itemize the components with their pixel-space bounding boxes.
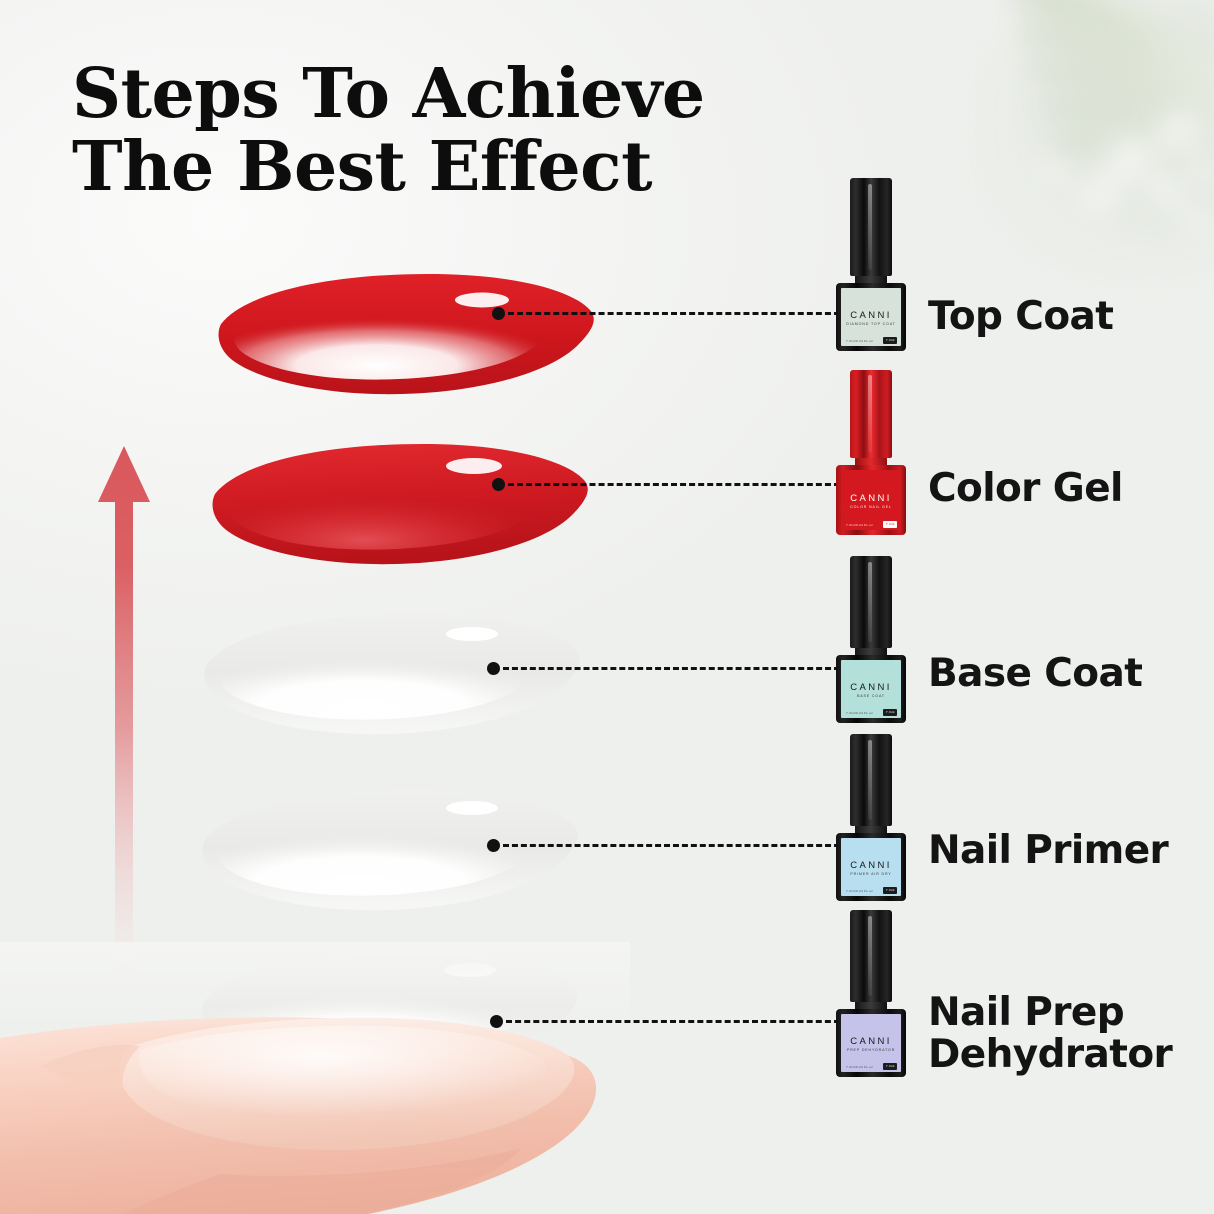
nail-layer-nail-prep-dehydrator <box>196 942 586 1077</box>
bottle-brand: CANNI <box>850 683 892 693</box>
bottle-variant: DIAMOND TOP COAT <box>846 323 895 327</box>
connector-dash <box>503 667 840 670</box>
bottle-label: CANNI DIAMOND TOP COAT 7.3ml/0.24 FL.oz … <box>841 288 901 346</box>
connector-dot <box>492 307 505 320</box>
bottle-label: CANNI PRIMER AIR DRY 7.3ml/0.24 FL.oz 7.… <box>841 838 901 896</box>
bottle-top-coat[interactable]: CANNI DIAMOND TOP COAT 7.3ml/0.24 FL.oz … <box>836 178 906 351</box>
bottle-label: CANNI COLOR NAIL GEL 7.3ml/0.24 FL.oz 7.… <box>841 470 901 530</box>
connector-top-coat <box>492 306 840 320</box>
bottle-cap <box>850 734 892 826</box>
bottle-body: CANNI PRIMER AIR DRY 7.3ml/0.24 FL.oz 7.… <box>836 833 906 901</box>
connector-base-coat <box>487 661 840 675</box>
bottle-neck <box>855 458 887 465</box>
palm-frond-decoration <box>854 0 1214 340</box>
connector-dash <box>506 1020 840 1023</box>
bottle-color-gel[interactable]: CANNI COLOR NAIL GEL 7.3ml/0.24 FL.oz 7.… <box>836 370 906 535</box>
bottle-volume: 7.3ml/0.24 FL.oz <box>846 524 873 527</box>
bottle-badge: 7.3ml <box>883 521 897 527</box>
bottle-base-coat[interactable]: CANNI BASE COAT 7.3ml/0.24 FL.oz 7.3ml <box>836 556 906 723</box>
bottle-variant: COLOR NAIL GEL <box>850 506 892 510</box>
upward-progress-arrow <box>93 446 155 991</box>
connector-dash <box>508 483 840 486</box>
bottle-cap <box>850 178 892 276</box>
bottle-variant: PREP DEHYDRATOR <box>847 1049 895 1053</box>
bottle-label: CANNI BASE COAT 7.3ml/0.24 FL.oz 7.3ml <box>841 660 901 718</box>
bottle-brand: CANNI <box>850 494 892 504</box>
bottle-brand: CANNI <box>850 311 892 321</box>
bottle-volume: 7.3ml/0.24 FL.oz <box>846 890 873 893</box>
bottle-volume: 7.3ml/0.24 FL.oz <box>846 712 873 715</box>
bottle-cap <box>850 556 892 648</box>
bottle-variant: BASE COAT <box>857 695 885 699</box>
connector-dot <box>492 478 505 491</box>
connector-dash <box>503 844 840 847</box>
bottle-label: CANNI PREP DEHYDRATOR 7.3ml/0.24 FL.oz 7… <box>841 1014 901 1072</box>
bottle-volume: 7.3ml/0.24 FL.oz <box>846 1066 873 1069</box>
bottle-body: CANNI BASE COAT 7.3ml/0.24 FL.oz 7.3ml <box>836 655 906 723</box>
step-label-base-coat: Base Coat <box>928 653 1142 695</box>
step-label-color-gel: Color Gel <box>928 468 1123 510</box>
bottle-nail-primer[interactable]: CANNI PRIMER AIR DRY 7.3ml/0.24 FL.oz 7.… <box>836 734 906 901</box>
page-title: Steps To Achieve The Best Effect <box>72 58 705 205</box>
connector-dot <box>487 662 500 675</box>
bottle-volume: 7.3ml/0.24 FL.oz <box>846 340 873 343</box>
connector-color-gel <box>492 477 840 491</box>
bottle-brand: CANNI <box>850 861 892 871</box>
bottle-cap <box>850 910 892 1002</box>
bottle-neck <box>855 276 887 283</box>
connector-nail-prep-dehydrator <box>490 1014 840 1028</box>
bottle-body: CANNI COLOR NAIL GEL 7.3ml/0.24 FL.oz 7.… <box>836 465 906 535</box>
bottle-nail-prep-dehydrator[interactable]: CANNI PREP DEHYDRATOR 7.3ml/0.24 FL.oz 7… <box>836 910 906 1077</box>
bottle-variant: PRIMER AIR DRY <box>850 873 891 877</box>
bottle-body: CANNI DIAMOND TOP COAT 7.3ml/0.24 FL.oz … <box>836 283 906 351</box>
bottle-neck <box>855 648 887 655</box>
bottle-body: CANNI PREP DEHYDRATOR 7.3ml/0.24 FL.oz 7… <box>836 1009 906 1077</box>
infographic-canvas: Steps To Achieve The Best Effect <box>0 0 1214 1214</box>
nail-layer-color-gel <box>206 436 596 571</box>
connector-nail-primer <box>487 838 840 852</box>
nail-layer-top-coat <box>212 266 602 401</box>
bottle-badge: 7.3ml <box>883 1063 897 1069</box>
connector-dot <box>490 1015 503 1028</box>
bottle-cap <box>850 370 892 458</box>
bottle-neck <box>855 1002 887 1009</box>
bottle-badge: 7.3ml <box>883 709 897 715</box>
connector-dash <box>508 312 840 315</box>
bottle-neck <box>855 826 887 833</box>
step-label-nail-prep-dehydrator: Nail Prep Dehydrator <box>928 992 1172 1076</box>
step-label-top-coat: Top Coat <box>928 296 1113 338</box>
bottle-brand: CANNI <box>850 1037 892 1047</box>
bottle-badge: 7.3ml <box>883 337 897 343</box>
connector-dot <box>487 839 500 852</box>
step-label-nail-primer: Nail Primer <box>928 830 1168 872</box>
bottle-badge: 7.3ml <box>883 887 897 893</box>
